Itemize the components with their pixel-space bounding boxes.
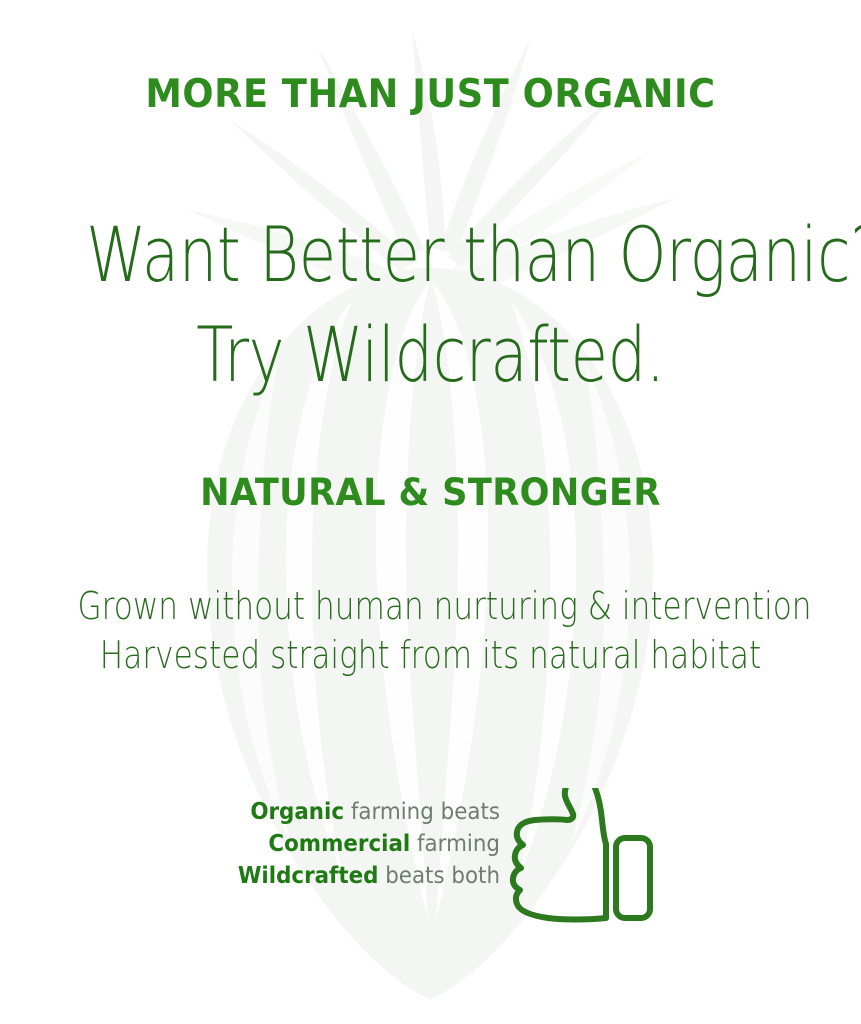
claim-line-1-strong: Organic	[250, 799, 344, 825]
claim-line-2: Commercial farming	[219, 828, 500, 860]
claim-line-2-rest: farming	[410, 831, 500, 857]
body-copy: Grown without human nurturing & interven…	[0, 582, 861, 680]
headline-line-1: Want Better than Organic?	[86, 205, 775, 305]
claim-line-3-strong: Wildcrafted	[238, 863, 379, 889]
claim-inner: Organic farming beats Commercial farming…	[198, 788, 668, 928]
claim-line-3: Wildcrafted beats both	[219, 860, 500, 892]
claim-block: Organic farming beats Commercial farming…	[0, 788, 861, 918]
eyebrow-heading: MORE THAN JUST ORGANIC	[26, 72, 835, 118]
body-line-1: Grown without human nurturing & interven…	[77, 582, 783, 631]
headline-line-2: Try Wildcrafted.	[86, 305, 775, 405]
poster-canvas: MORE THAN JUST ORGANIC Want Better than …	[0, 0, 861, 1024]
poster-content: MORE THAN JUST ORGANIC Want Better than …	[0, 0, 861, 1024]
subheading: NATURAL & STRONGER	[22, 470, 840, 516]
thumbs-up-icon-wrap	[508, 788, 658, 928]
claim-line-3-rest: beats both	[378, 863, 500, 889]
claim-line-1: Organic farming beats	[219, 796, 500, 828]
claim-text-lines: Organic farming beats Commercial farming…	[198, 788, 500, 892]
thumbs-up-icon	[508, 788, 658, 928]
main-headline: Want Better than Organic? Try Wildcrafte…	[0, 205, 861, 405]
body-line-2: Harvested straight from its natural habi…	[77, 631, 783, 680]
claim-line-1-rest: farming beats	[344, 799, 500, 825]
claim-line-2-strong: Commercial	[268, 831, 410, 857]
